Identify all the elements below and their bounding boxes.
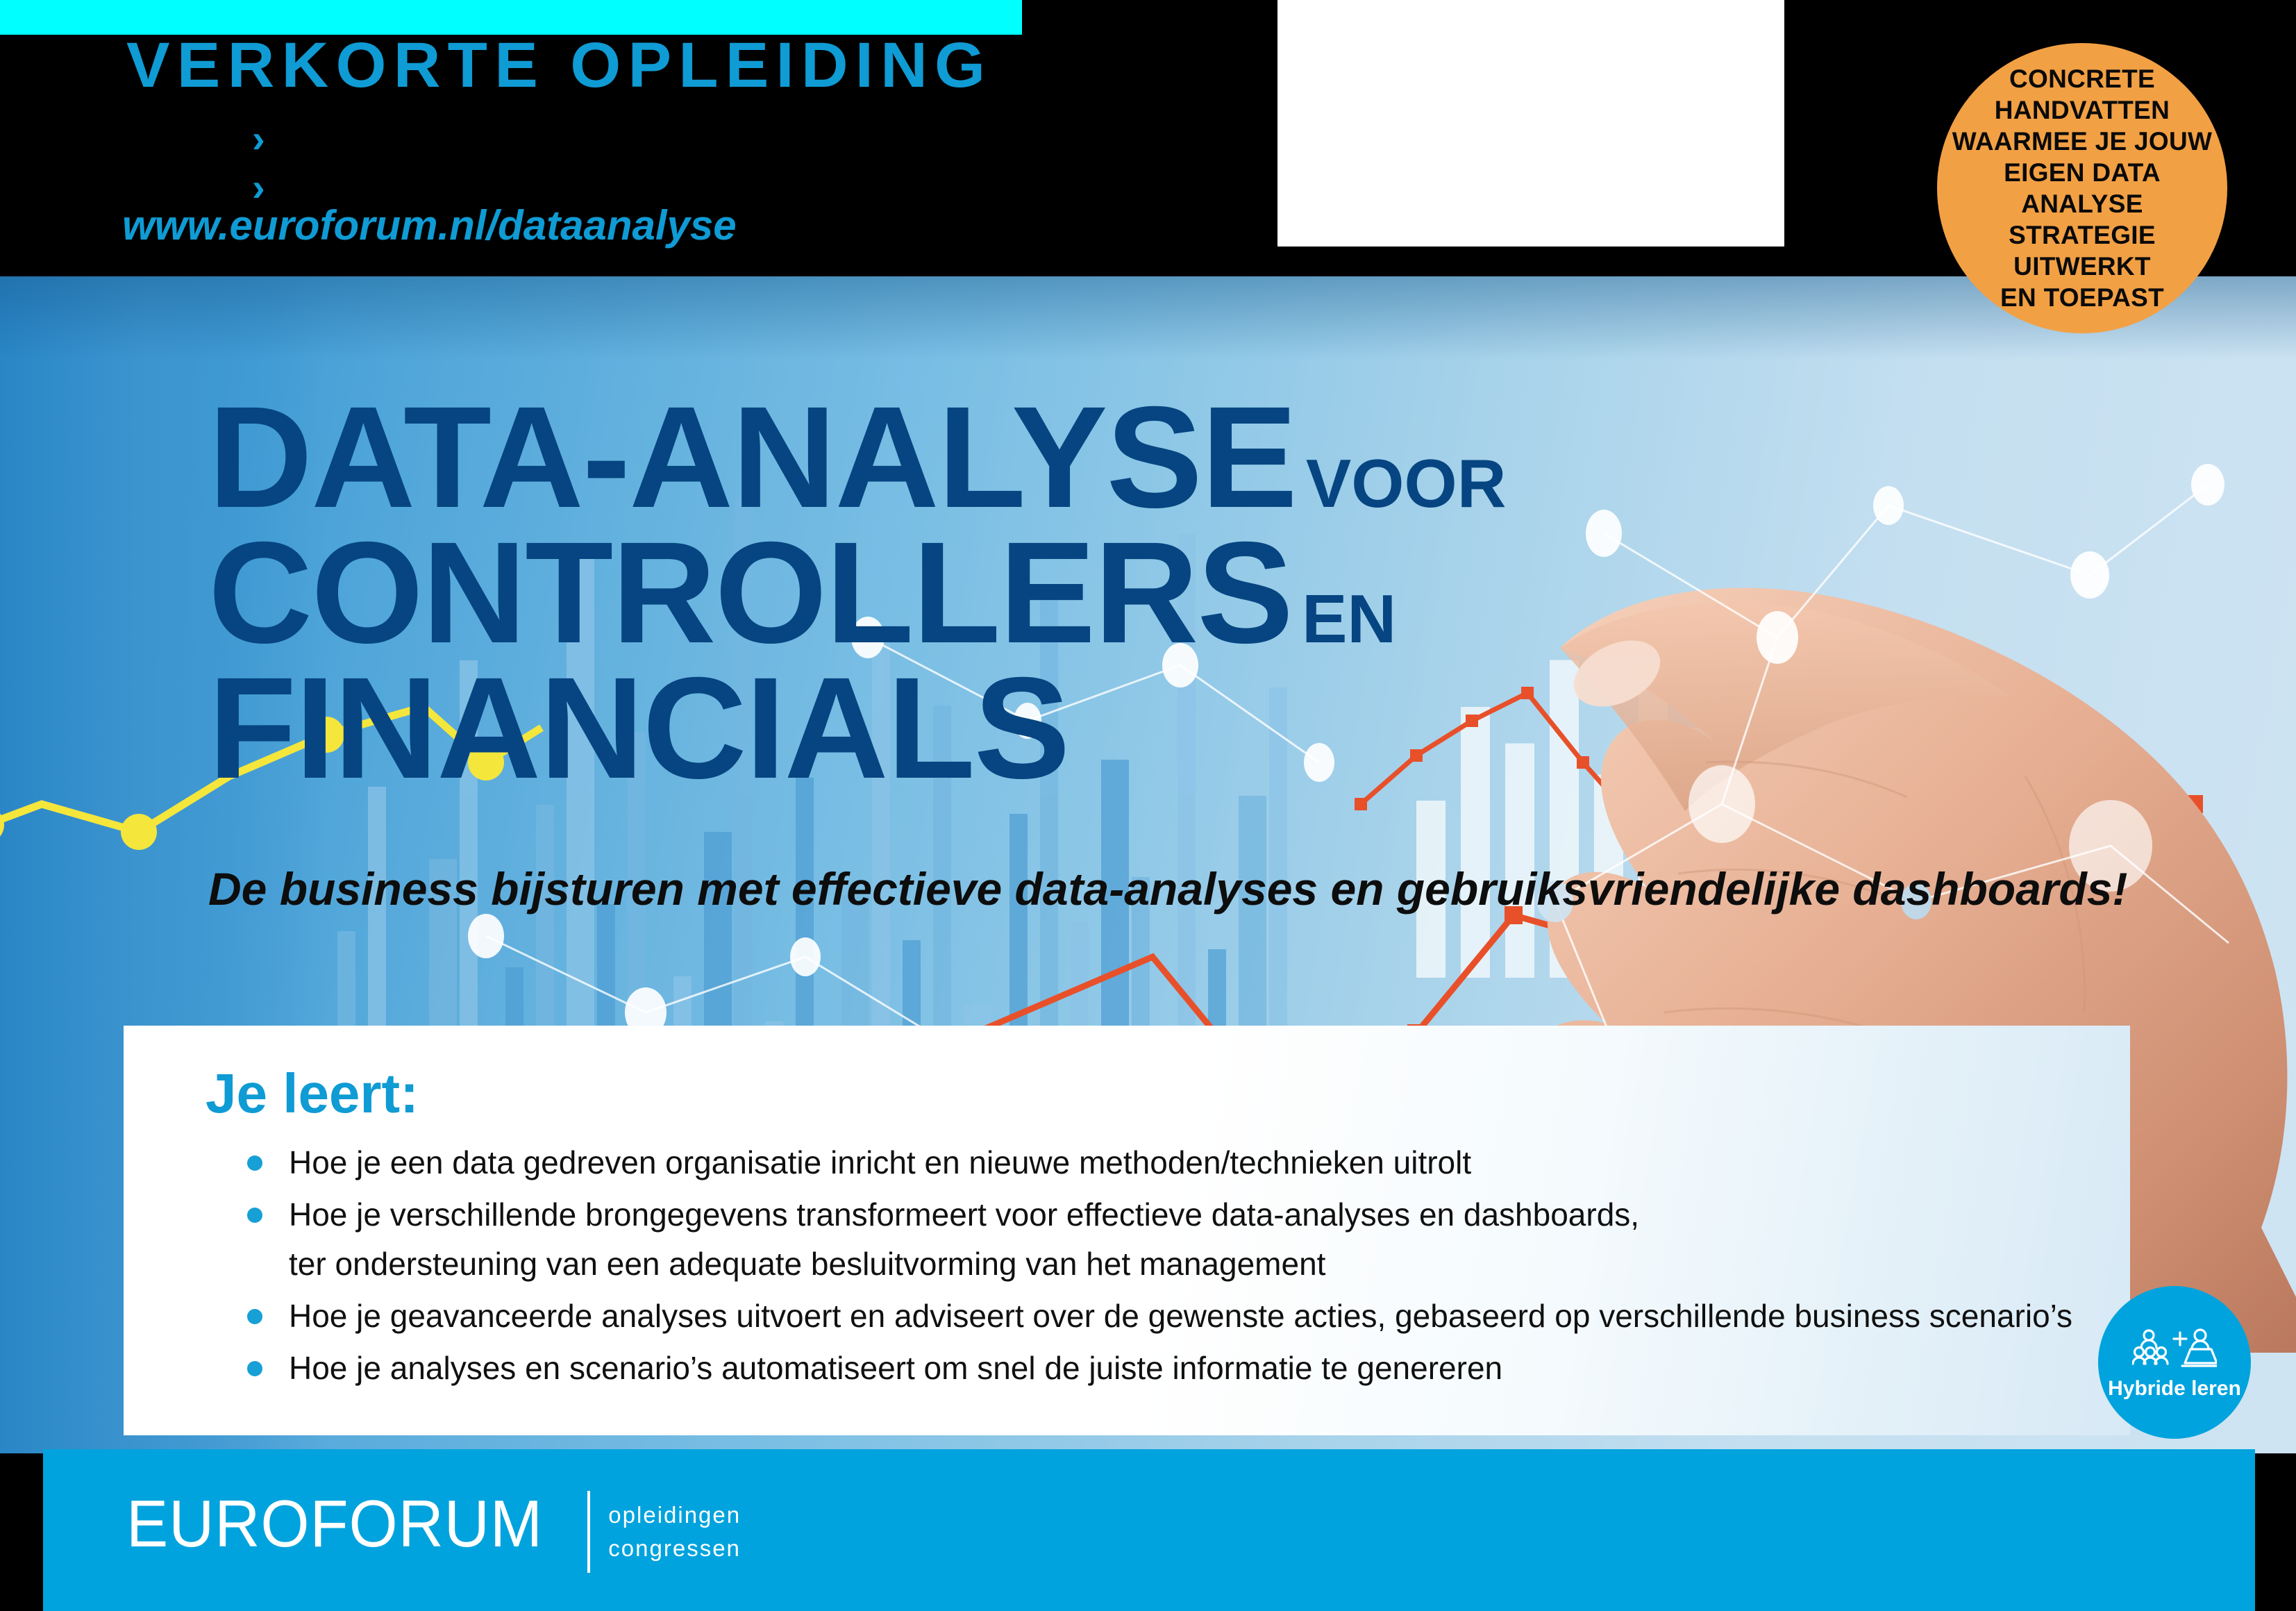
list-item: Hoe je verschillende brongegevens transf… [201,1194,2104,1285]
badge-line: EIGEN DATA ANALYSE [1944,157,2220,219]
badge-line: EN TOEPAST [1944,282,2220,313]
logo-divider [587,1491,590,1573]
list-item: Hoe je analyses en scenario’s automatise… [201,1348,2104,1389]
bullet-dot-icon [247,1155,262,1171]
bullet-dot-icon [247,1208,262,1223]
white-placeholder-box [1277,0,1784,247]
badge-line: WAARMEE JE JOUW [1944,126,2220,157]
bullet-text: Hoe je verschillende brongegevens transf… [289,1196,1639,1233]
chevron-right-icon-1: › [252,119,265,158]
list-item: Hoe je een data gedreven organisatie inr… [201,1142,2104,1183]
bullet-text: Hoe je analyses en scenario’s automatise… [289,1350,1502,1386]
learning-outcomes-panel: Je leert: Hoe je een data gedreven organ… [124,1026,2130,1435]
group-plus-laptop-icon [2132,1324,2217,1373]
kicker-label: VERKORTE OPLEIDING [126,29,992,102]
title-line-1-small: VOOR [1306,445,1507,521]
poster-title: DATA-ANALYSEVOOR CONTROLLERSEN FINANCIAL… [208,394,1506,792]
title-line-2: CONTROLLERSEN [208,530,1506,657]
euroforum-logo: EUROFORUM opleidingen congressen [126,1491,741,1573]
logo-tagline-line-2: congressen [608,1532,741,1565]
panel-heading: Je leert: [206,1062,419,1126]
poster-root: VERKORTE OPLEIDING › › www.euroforum.nl/… [0,0,2296,1611]
logo-tagline-line-1: opleidingen [608,1499,741,1532]
bullet-text-wrap: ter ondersteuning van een adequate beslu… [289,1244,2104,1285]
title-line-3: FINANCIALS [208,665,1506,792]
hybride-leren-badge: Hybride leren [2098,1286,2251,1439]
bullet-dot-icon [247,1361,262,1376]
title-line-1: DATA-ANALYSEVOOR [208,394,1506,521]
list-item: Hoe je geavanceerde analyses uitvoert en… [201,1296,2104,1337]
title-line-2-small: EN [1302,581,1396,657]
hybride-leren-label: Hybride leren [2108,1377,2241,1401]
poster-subtitle: De business bijsturen met effectieve dat… [208,862,2128,915]
logo-wordmark: EUROFORUM [126,1491,543,1573]
highlight-badge: CONCRETE HANDVATTEN WAARMEE JE JOUW EIGE… [1937,43,2227,333]
bullet-text: Hoe je een data gedreven organisatie inr… [289,1144,1471,1180]
bullet-list: Hoe je een data gedreven organisatie inr… [201,1142,2104,1399]
highlight-badge-text: CONCRETE HANDVATTEN WAARMEE JE JOUW EIGE… [1937,63,2227,314]
badge-line: CONCRETE [1944,63,2220,94]
badge-line: HANDVATTEN [1944,94,2220,126]
footer-bar: EUROFORUM opleidingen congressen [43,1449,2255,1611]
footer-corner-block [2255,1531,2296,1611]
logo-tagline: opleidingen congressen [608,1491,741,1573]
bullet-dot-icon [247,1309,262,1324]
website-url[interactable]: www.euroforum.nl/dataanalyse [122,201,737,249]
badge-line: STRATEGIE UITWERKT [1944,219,2220,282]
bullet-text: Hoe je geavanceerde analyses uitvoert en… [289,1298,2072,1334]
